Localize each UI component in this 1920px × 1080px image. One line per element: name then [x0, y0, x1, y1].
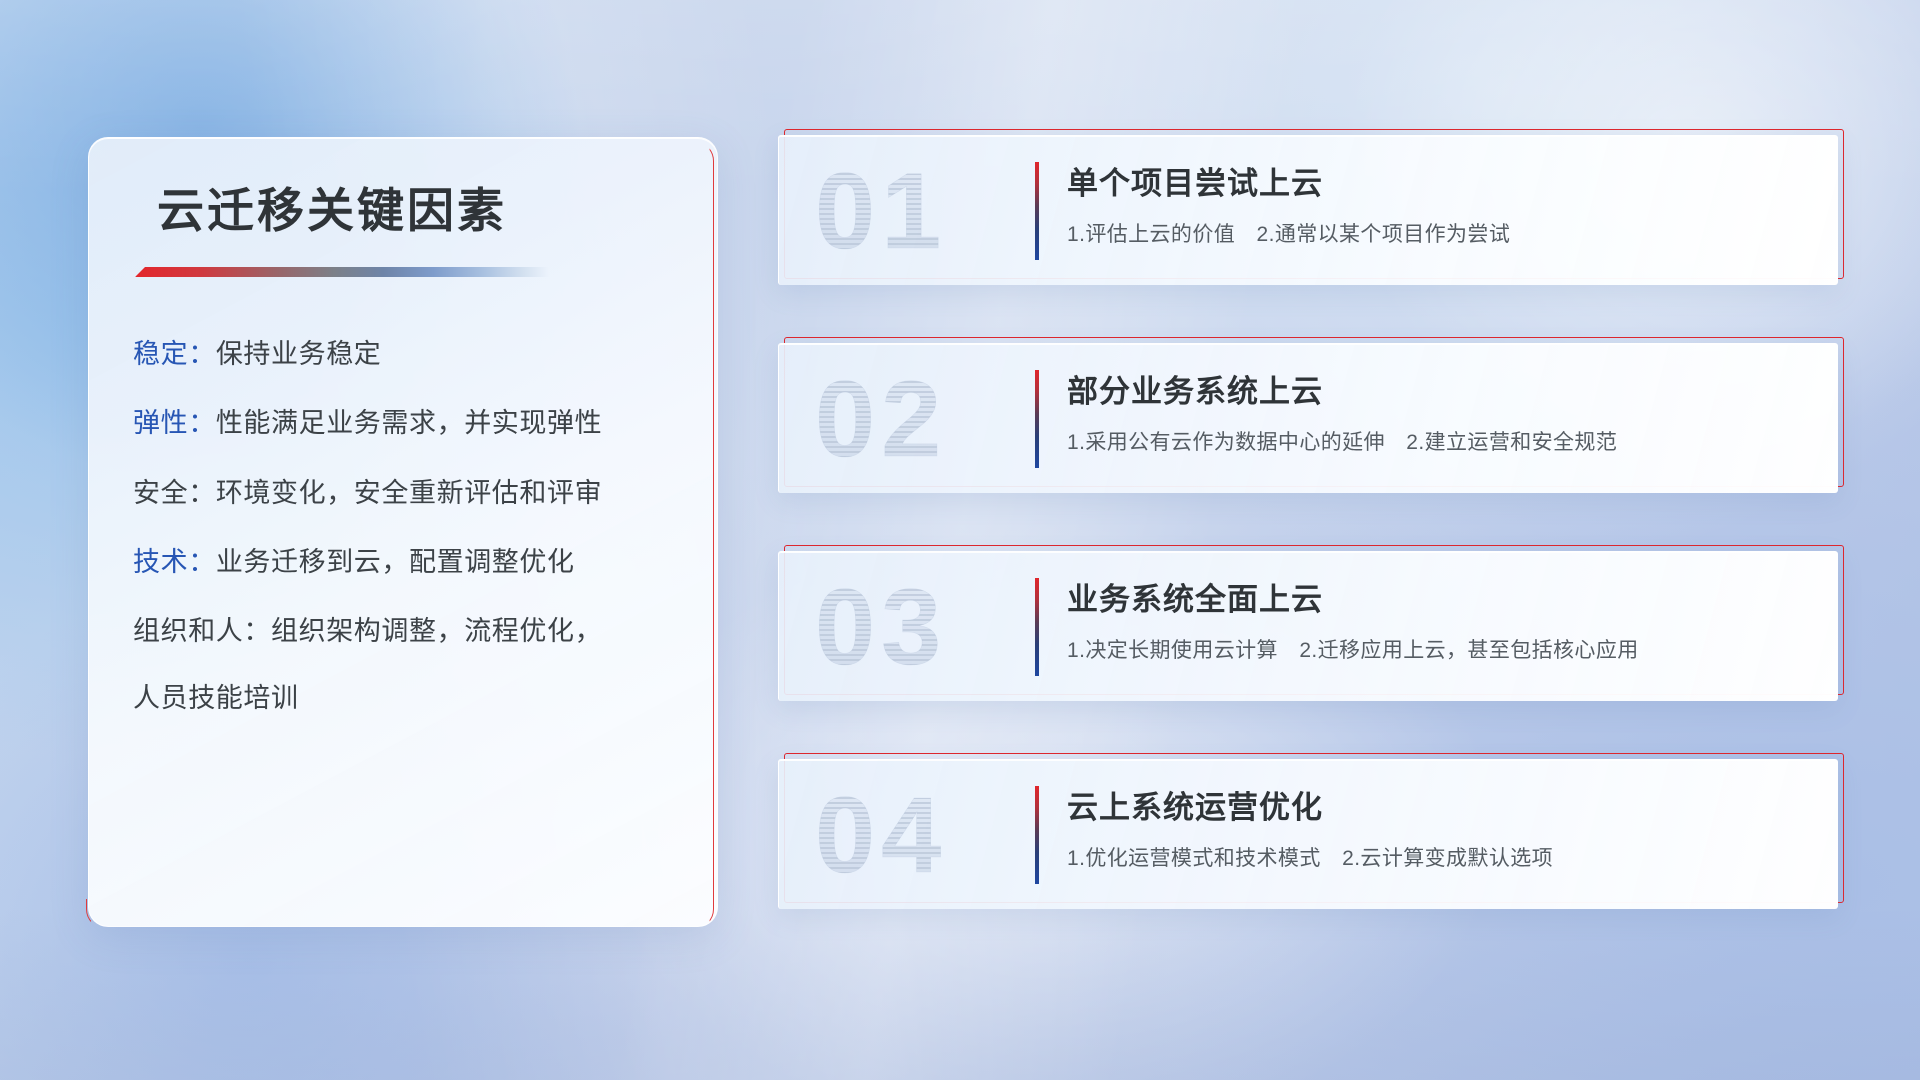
card-number-watermark: 03: [815, 573, 947, 681]
stage-cards-list: 01 01 单个项目尝试上云 1.评估上云的价值 2.通常以某个项目作为尝试 0…: [778, 135, 1838, 909]
card-title: 业务系统全面上云: [1067, 574, 1323, 619]
card-accent-bar: [1035, 786, 1039, 884]
card-description: 1.决定长期使用云计算 2.迁移应用上云，甚至包括核心应用: [1067, 634, 1639, 664]
list-item-value: 业务迁移到云，配置调整优化: [216, 547, 575, 577]
list-item: 技术：业务迁移到云，配置调整优化: [133, 544, 687, 581]
card-accent-bar: [1035, 370, 1039, 468]
card-number-watermark: 02: [815, 365, 947, 473]
stage-card[interactable]: 04 04 云上系统运营优化 1.优化运营模式和技术模式 2.云计算变成默认选项: [778, 759, 1838, 909]
card-title: 云上系统运营优化: [1067, 782, 1323, 827]
key-factors-list: 稳定：保持业务稳定 弹性：性能满足业务需求，并实现弹性 安全：环境变化，安全重新…: [133, 336, 687, 718]
list-item-key: 技术：: [133, 547, 216, 577]
list-item-value-line2: 人员技能培训: [133, 680, 687, 717]
stage-card[interactable]: 03 03 业务系统全面上云 1.决定长期使用云计算 2.迁移应用上云，甚至包括…: [778, 551, 1838, 701]
list-item-key: 安全：: [133, 478, 216, 508]
card-number-watermark: 01: [815, 157, 947, 265]
card-title: 单个项目尝试上云: [1067, 158, 1323, 203]
card-surface: 01 01 单个项目尝试上云 1.评估上云的价值 2.通常以某个项目作为尝试: [778, 135, 1838, 285]
list-item-value: 环境变化，安全重新评估和评审: [216, 478, 602, 508]
card-description: 1.优化运营模式和技术模式 2.云计算变成默认选项: [1067, 842, 1553, 872]
list-item-value: 保持业务稳定: [216, 339, 382, 369]
card-title: 部分业务系统上云: [1067, 366, 1323, 411]
list-item: 安全：环境变化，安全重新评估和评审: [133, 475, 687, 512]
panel-title: 云迁移关键因素: [157, 172, 785, 241]
key-factors-panel: 云迁移关键因素 稳定：保持业务稳定 弹性：性能满足业务需求，并实现弹性 安全：环…: [88, 137, 718, 927]
list-item-value: 组织架构调整，流程优化，: [271, 616, 602, 646]
panel-title-divider: [135, 267, 549, 277]
list-item-value: 性能满足业务需求，并实现弹性: [216, 408, 602, 438]
card-accent-bar: [1035, 578, 1039, 676]
card-description: 1.采用公有云作为数据中心的延伸 2.建立运营和安全规范: [1067, 426, 1617, 456]
card-accent-bar: [1035, 162, 1039, 260]
list-item: 弹性：性能满足业务需求，并实现弹性: [133, 405, 687, 442]
list-item: 组织和人：组织架构调整，流程优化， 人员技能培训: [133, 613, 687, 718]
card-description: 1.评估上云的价值 2.通常以某个项目作为尝试: [1067, 218, 1510, 248]
list-item-key: 组织和人：: [133, 616, 271, 646]
stage-card[interactable]: 02 02 部分业务系统上云 1.采用公有云作为数据中心的延伸 2.建立运营和安…: [778, 343, 1838, 493]
list-item: 稳定：保持业务稳定: [133, 336, 687, 373]
card-surface: 04 04 云上系统运营优化 1.优化运营模式和技术模式 2.云计算变成默认选项: [778, 759, 1838, 909]
list-item-key: 稳定：: [133, 339, 216, 369]
card-number-watermark: 04: [815, 781, 947, 889]
stage-card[interactable]: 01 01 单个项目尝试上云 1.评估上云的价值 2.通常以某个项目作为尝试: [778, 135, 1838, 285]
card-surface: 02 02 部分业务系统上云 1.采用公有云作为数据中心的延伸 2.建立运营和安…: [778, 343, 1838, 493]
list-item-key: 弹性：: [133, 408, 216, 438]
card-surface: 03 03 业务系统全面上云 1.决定长期使用云计算 2.迁移应用上云，甚至包括…: [778, 551, 1838, 701]
